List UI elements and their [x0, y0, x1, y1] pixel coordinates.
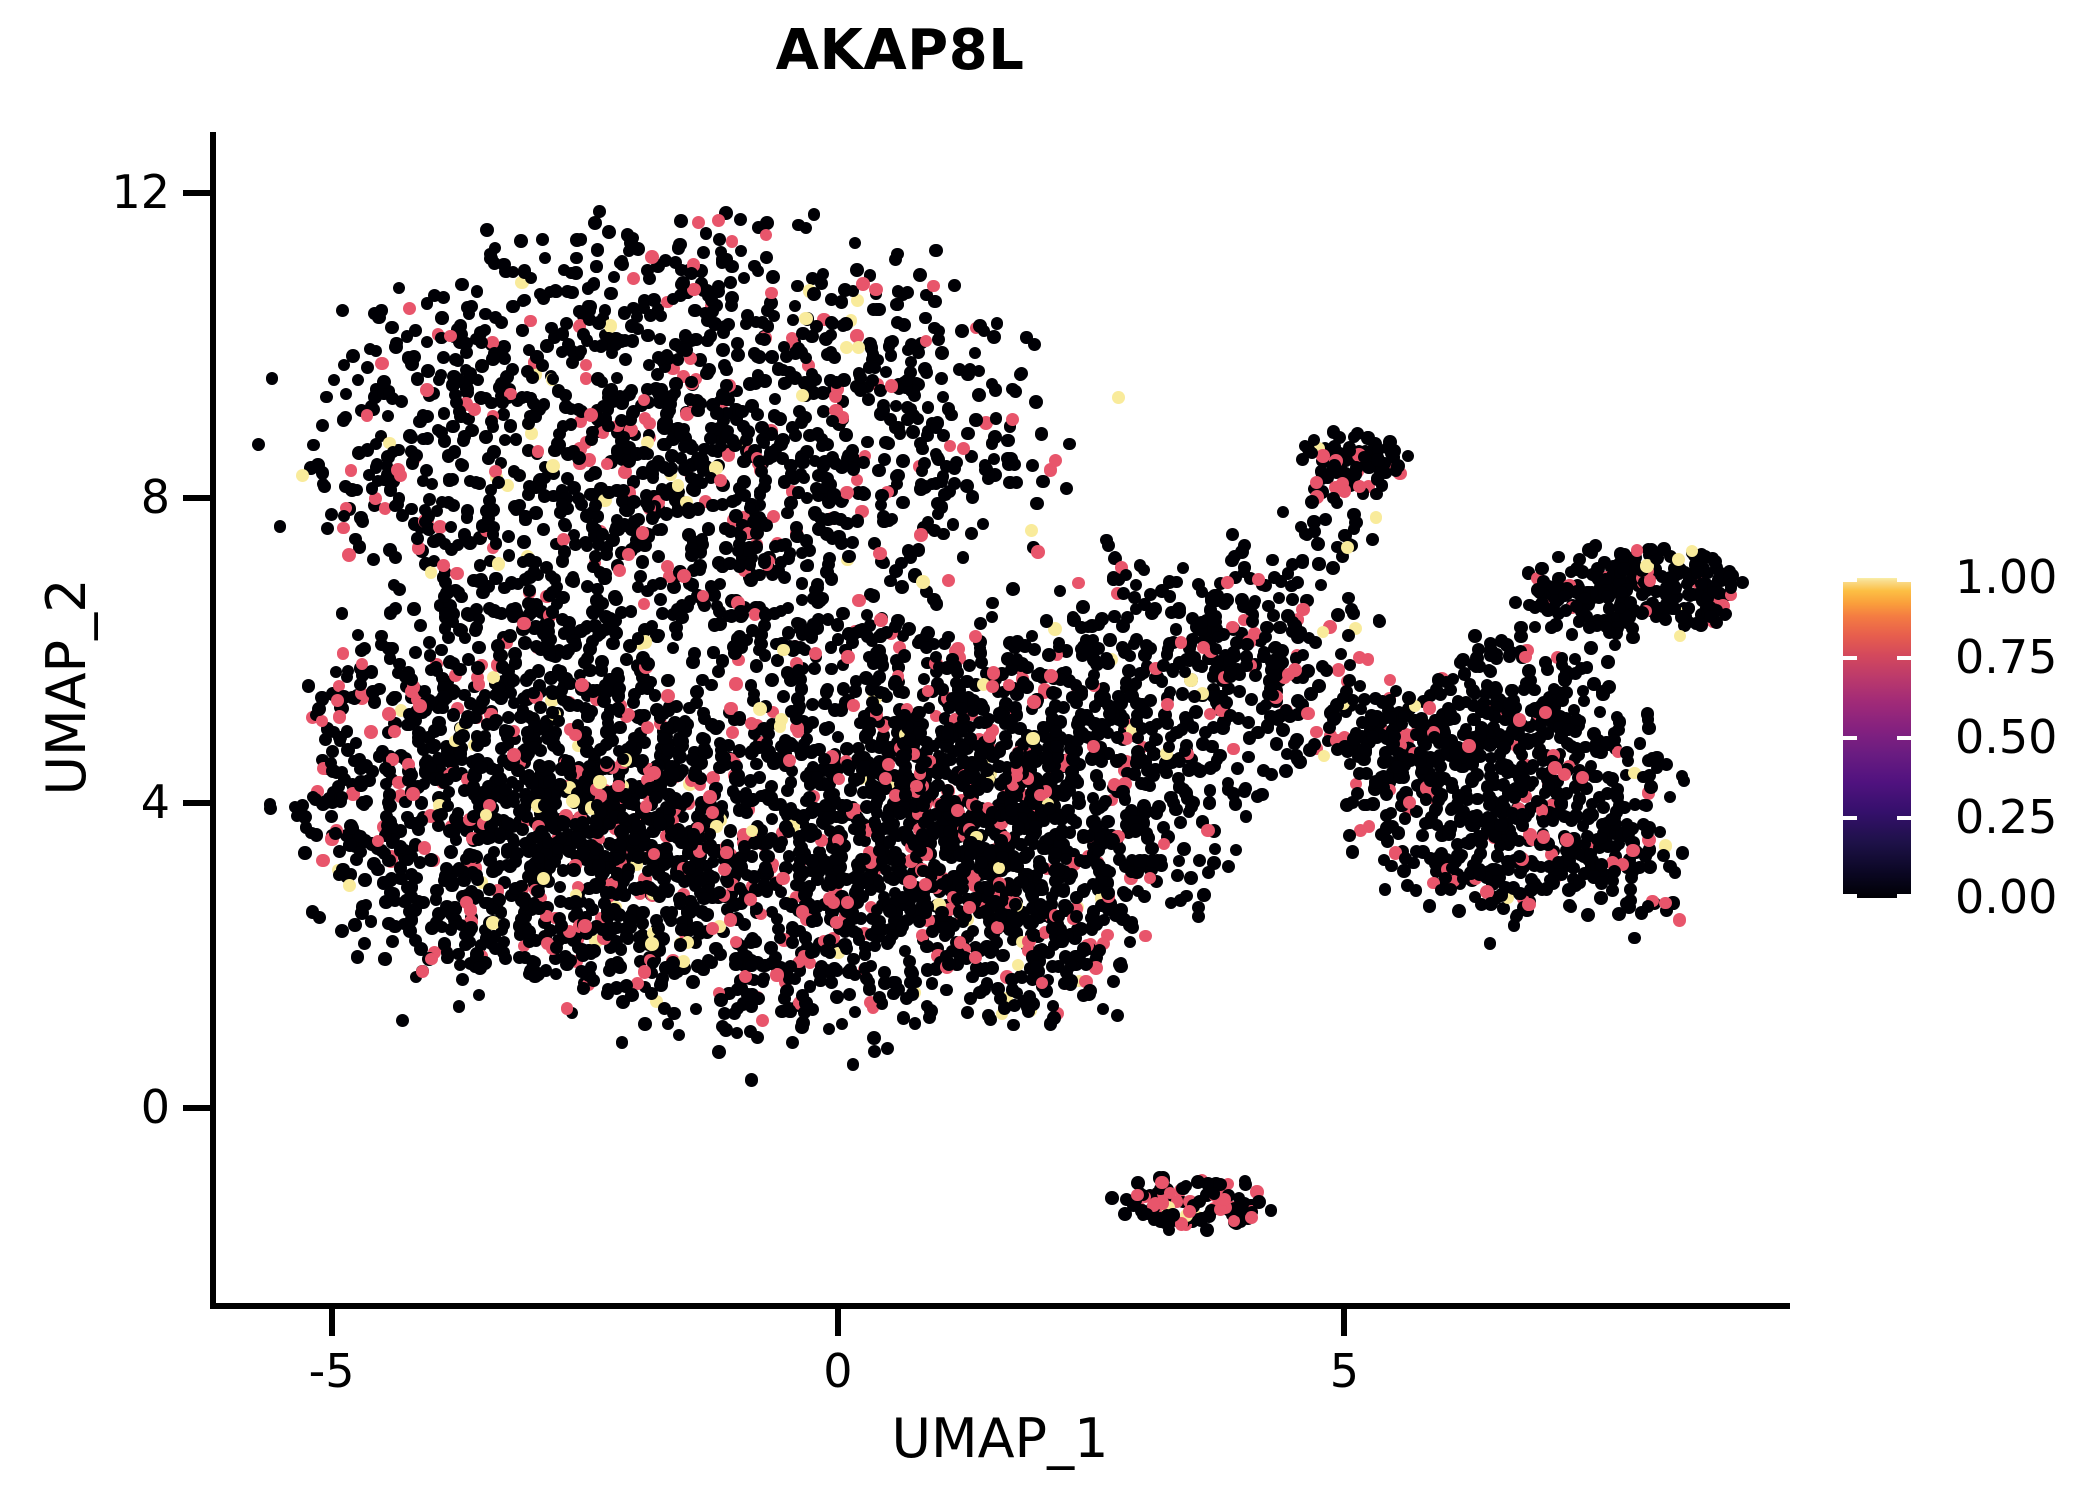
scatter-point: [771, 913, 783, 925]
scatter-point: [575, 345, 588, 358]
scatter-point: [654, 353, 666, 365]
scatter-point: [316, 854, 330, 868]
scatter-point: [557, 816, 570, 829]
scatter-point: [706, 305, 719, 318]
scatter-point: [940, 984, 952, 996]
scatter-point: [737, 475, 751, 489]
scatter-point: [720, 846, 732, 858]
scatter-point: [828, 511, 842, 525]
scatter-point: [745, 679, 758, 692]
scatter-point: [350, 737, 362, 749]
scatter-point: [341, 725, 354, 738]
scatter-point: [724, 276, 737, 289]
scatter-point: [475, 336, 488, 349]
scatter-point: [830, 376, 843, 389]
scatter-point: [744, 558, 757, 571]
scatter-point: [640, 800, 653, 813]
scatter-point: [499, 725, 512, 738]
scatter-point: [325, 810, 338, 823]
scatter-point: [774, 720, 786, 732]
scatter-point: [857, 487, 871, 501]
scatter-point: [716, 343, 730, 357]
scatter-point: [972, 388, 986, 402]
scatter-point: [731, 1002, 745, 1016]
scatter-point: [993, 707, 1005, 719]
scatter-point: [405, 914, 418, 927]
scatter-point: [1170, 623, 1182, 635]
scatter-point: [654, 593, 667, 606]
scatter-point: [455, 278, 468, 291]
scatter-point: [681, 600, 694, 613]
scatter-point: [789, 300, 801, 312]
scatter-point: [938, 488, 952, 502]
scatter-point: [1049, 847, 1062, 860]
scatter-point: [583, 642, 597, 656]
scatter-point: [507, 674, 520, 687]
scatter-point: [854, 383, 867, 396]
scatter-point: [530, 350, 543, 363]
scatter-point: [592, 859, 606, 873]
scatter-point: [571, 831, 583, 843]
scatter-point: [535, 760, 547, 772]
scatter-point: [596, 528, 609, 541]
scatter-point: [483, 853, 497, 867]
scatter-point: [633, 940, 646, 953]
scatter-point: [665, 462, 678, 475]
scatter-point: [879, 436, 892, 449]
scatter-point: [329, 827, 342, 840]
scatter-point: [785, 705, 798, 718]
scatter-point: [365, 665, 378, 678]
scatter-point: [337, 413, 351, 427]
scatter-point: [585, 433, 598, 446]
scatter-point: [506, 363, 519, 376]
scatter-point: [826, 415, 839, 428]
scatter-point: [756, 1014, 769, 1027]
scatter-point: [382, 410, 395, 423]
scatter-point: [937, 528, 949, 540]
scatter-point: [935, 346, 949, 360]
scatter-point: [1115, 753, 1127, 765]
scatter-point: [370, 345, 383, 358]
scatter-point: [532, 445, 545, 458]
scatter-point: [418, 778, 431, 791]
scatter-point: [464, 921, 478, 935]
scatter-point: [469, 624, 482, 637]
scatter-point: [735, 245, 748, 258]
scatter-point: [460, 337, 473, 350]
scatter-point: [645, 250, 659, 264]
scatter-point: [901, 286, 914, 299]
scatter-point: [881, 1042, 895, 1056]
scatter-point: [602, 486, 615, 499]
scatter-point: [496, 396, 509, 409]
scatter-point: [516, 324, 529, 337]
scatter-point: [252, 438, 265, 451]
scatter-point: [857, 786, 870, 799]
scatter-point: [651, 630, 664, 643]
scatter-point: [320, 391, 332, 403]
scatter-point: [727, 434, 739, 446]
scatter-point: [385, 321, 398, 334]
scatter-point: [812, 522, 826, 536]
scatter-point: [638, 1017, 652, 1031]
scatter-point: [1101, 815, 1115, 829]
scatter-point: [643, 272, 656, 285]
scatter-point: [1171, 869, 1184, 882]
scatter-point: [566, 794, 580, 808]
scatter-point: [738, 272, 750, 284]
scatter-point: [759, 861, 771, 873]
scatter-point: [963, 785, 977, 799]
scatter-point: [818, 753, 831, 766]
scatter-point: [927, 280, 939, 292]
scatter-point: [540, 339, 554, 353]
scatter-point: [661, 674, 674, 687]
scatter-point: [918, 362, 932, 376]
scatter-point: [352, 629, 364, 641]
scatter-point: [973, 365, 985, 377]
scatter-point: [825, 316, 838, 329]
scatter-point: [578, 919, 592, 933]
scatter-point: [811, 873, 824, 886]
scatter-point: [425, 566, 437, 578]
scatter-point: [770, 968, 783, 981]
scatter-point: [1066, 813, 1078, 825]
scatter-point: [878, 515, 891, 528]
scatter-point: [457, 434, 470, 447]
scatter-point: [857, 456, 870, 469]
scatter-point: [498, 582, 511, 595]
scatter-point: [458, 689, 471, 702]
scatter-point: [496, 660, 509, 673]
scatter-point: [556, 498, 569, 511]
scatter-point: [1021, 847, 1035, 861]
scatter-point: [349, 533, 362, 546]
scatter-point: [842, 550, 855, 563]
scatter-point: [523, 553, 536, 566]
scatter-point: [375, 357, 388, 370]
scatter-point: [492, 557, 505, 570]
scatter-point: [424, 853, 437, 866]
scatter-point: [339, 480, 352, 493]
x-axis-label: UMAP_1: [210, 1412, 1790, 1466]
scatter-point: [377, 375, 391, 389]
scatter-point: [502, 711, 515, 724]
scatter-point: [453, 1000, 465, 1012]
scatter-point: [637, 709, 651, 723]
scatter-point: [446, 378, 459, 391]
scatter-point: [830, 990, 844, 1004]
scatter-point: [697, 246, 711, 260]
scatter-point: [809, 508, 821, 520]
scatter-point: [897, 1011, 911, 1025]
scatter-point: [405, 880, 418, 893]
scatter-point: [849, 1006, 861, 1018]
scatter-point: [932, 763, 945, 776]
scatter-point: [386, 935, 399, 948]
scatter-point: [411, 532, 424, 545]
scatter-point: [543, 648, 556, 661]
scatter-point: [412, 726, 426, 740]
scatter-point: [696, 533, 708, 545]
scatter-point: [525, 392, 537, 404]
scatter-point: [590, 260, 602, 272]
scatter-point: [805, 746, 817, 758]
scatter-point: [965, 527, 978, 540]
scatter-point: [559, 389, 572, 402]
x-axis-tick-mark: [1341, 1309, 1347, 1336]
scatter-point: [673, 734, 686, 747]
scatter-point: [1030, 497, 1043, 510]
scatter-point: [1057, 885, 1070, 898]
scatter-point: [690, 685, 704, 699]
scatter-point: [864, 588, 877, 601]
scatter-point: [745, 960, 758, 973]
scatter-point: [618, 431, 631, 444]
scatter-point: [760, 251, 773, 264]
scatter-point: [604, 287, 618, 301]
scatter-point: [703, 790, 717, 804]
scatter-point: [622, 870, 634, 882]
scatter-point: [754, 489, 767, 502]
scatter-point: [865, 341, 878, 354]
scatter-point: [510, 433, 523, 446]
scatter-point: [354, 511, 367, 524]
scatter-point: [840, 486, 854, 500]
scatter-point: [528, 741, 540, 753]
scatter-point: [1039, 751, 1053, 765]
scatter-point: [619, 353, 632, 366]
scatter-point: [819, 799, 832, 812]
scatter-point: [614, 839, 626, 851]
scatter-point: [638, 294, 651, 307]
scatter-point: [1015, 875, 1028, 888]
scatter-point: [917, 865, 929, 877]
scatter-point: [614, 825, 628, 839]
scatter-point: [647, 766, 661, 780]
scatter-point: [957, 442, 970, 455]
x-axis-tick-label: -5: [262, 1348, 402, 1394]
scatter-point: [358, 799, 370, 811]
scatter-point: [700, 909, 713, 922]
scatter-point: [415, 814, 428, 827]
scatter-point: [417, 433, 429, 445]
scatter-point: [750, 758, 763, 771]
scatter-point: [1048, 865, 1060, 877]
scatter-point: [717, 751, 731, 765]
scatter-point: [622, 548, 635, 561]
scatter-point: [487, 445, 501, 459]
scatter-point: [452, 539, 464, 551]
scatter-point: [562, 644, 575, 657]
scatter-point: [558, 518, 571, 531]
scatter-point: [611, 702, 625, 716]
scatter-point: [1009, 701, 1022, 714]
scatter-point: [399, 671, 411, 683]
scatter-point: [653, 817, 666, 830]
scatter-point: [517, 535, 530, 548]
scatter-point: [552, 843, 564, 855]
scatter-point: [825, 976, 838, 989]
scatter-point: [946, 837, 960, 851]
scatter-point: [394, 469, 407, 482]
scatter-point: [937, 798, 951, 812]
scatter-point: [569, 266, 583, 280]
scatter-point: [967, 705, 979, 717]
scatter-point: [473, 989, 485, 1001]
x-axis-tick-mark: [329, 1309, 335, 1336]
x-axis-tick-label: 5: [1274, 1348, 1414, 1394]
scatter-point: [852, 341, 865, 354]
scatter-point: [787, 314, 799, 326]
scatter-point: [883, 934, 896, 947]
scatter-point: [1009, 385, 1022, 398]
scatter-point: [613, 721, 627, 735]
scatter-point: [593, 775, 606, 788]
scatter-point: [887, 988, 899, 1000]
scatter-point: [567, 571, 580, 584]
scatter-point: [509, 656, 522, 669]
scatter-point: [875, 489, 888, 502]
scatter-point: [503, 629, 517, 643]
scatter-point: [556, 591, 570, 605]
scatter-point: [912, 543, 926, 557]
scatter-point: [425, 953, 438, 966]
scatter-point: [656, 607, 669, 620]
scatter-point: [842, 923, 854, 935]
scatter-point: [499, 952, 512, 965]
scatter-point: [828, 703, 842, 717]
scatter-point: [1193, 854, 1206, 867]
scatter-point: [354, 830, 367, 843]
scatter-point: [757, 722, 771, 736]
scatter-point: [840, 341, 853, 354]
scatter-point: [948, 279, 960, 291]
scatter-point: [859, 853, 871, 865]
y-axis-tick-mark: [183, 1105, 210, 1111]
scatter-point: [1139, 930, 1151, 942]
scatter-point: [752, 265, 765, 278]
scatter-point: [935, 500, 948, 513]
scatter-point: [667, 293, 679, 305]
scatter-point: [877, 403, 891, 417]
scatter-point: [765, 287, 778, 300]
scatter-point: [479, 689, 491, 701]
scatter-point: [1025, 524, 1038, 537]
scatter-point: [296, 469, 310, 483]
scatter-point: [744, 502, 756, 514]
scatter-point: [991, 921, 1004, 934]
scatter-point: [690, 769, 702, 781]
scatter-point: [675, 923, 687, 935]
scatter-point: [358, 873, 371, 886]
scatter-point: [1037, 721, 1049, 733]
scatter-point: [613, 682, 626, 695]
scatter-point: [683, 702, 696, 715]
scatter-point: [829, 390, 842, 403]
scatter-point: [955, 702, 968, 715]
scatter-point: [474, 573, 488, 587]
scatter-point: [1141, 831, 1155, 845]
scatter-point: [839, 428, 853, 442]
scatter-point: [767, 757, 780, 770]
scatter-point: [430, 893, 443, 906]
scatter-point: [527, 956, 540, 969]
scatter-point: [553, 715, 565, 727]
scatter-point: [707, 646, 719, 658]
scatter-point: [549, 284, 562, 297]
scatter-point: [884, 336, 896, 348]
scatter-point: [540, 964, 553, 977]
scatter-point: [1079, 855, 1093, 869]
scatter-point: [752, 992, 765, 1005]
scatter-point: [890, 400, 902, 412]
scatter-point: [331, 694, 344, 707]
scatter-point: [761, 885, 774, 898]
scatter-point: [961, 1006, 974, 1019]
scatter-point: [891, 316, 904, 329]
scatter-point: [901, 374, 913, 386]
scatter-point: [774, 414, 787, 427]
scatter-point: [1050, 769, 1064, 783]
scatter-point: [402, 351, 416, 365]
scatter-point: [438, 407, 450, 419]
scatter-point: [1010, 757, 1022, 769]
scatter-point: [776, 872, 789, 885]
scatter-point: [919, 878, 932, 891]
scatter-point: [943, 825, 955, 837]
scatter-point: [844, 783, 857, 796]
scatter-point: [731, 348, 745, 362]
scatter-point: [402, 854, 414, 866]
scatter-point: [600, 685, 614, 699]
scatter-point: [1124, 936, 1136, 948]
scatter-point: [1063, 438, 1075, 450]
scatter-point: [710, 407, 723, 420]
scatter-point: [843, 988, 856, 1001]
scatter-point: [452, 355, 464, 367]
scatter-point: [1093, 778, 1106, 791]
scatter-point: [522, 597, 535, 610]
scatter-point: [765, 832, 778, 845]
scatter-point: [471, 873, 484, 886]
scatter-point: [532, 852, 544, 864]
scatter-point: [448, 828, 460, 840]
scatter-point: [358, 642, 371, 655]
scatter-point: [825, 572, 839, 586]
scatter-point: [1270, 737, 1284, 751]
scatter-point: [781, 984, 793, 996]
scatter-point: [531, 885, 545, 899]
scatter-point: [414, 619, 427, 632]
scatter-point: [643, 359, 655, 371]
scatter-point: [507, 748, 521, 762]
scatter-point: [424, 649, 436, 661]
scatter-point: [453, 731, 466, 744]
scatter-point: [405, 503, 417, 515]
scatter-point: [1279, 764, 1293, 778]
scatter-point: [587, 561, 600, 574]
scatter-point: [534, 701, 547, 714]
scatter-point: [388, 725, 401, 738]
scatter-point: [914, 528, 928, 542]
scatter-point: [920, 335, 932, 347]
scatter-point: [700, 227, 713, 240]
scatter-point: [784, 547, 796, 559]
scatter-point: [490, 537, 502, 549]
scatter-point: [743, 377, 757, 391]
